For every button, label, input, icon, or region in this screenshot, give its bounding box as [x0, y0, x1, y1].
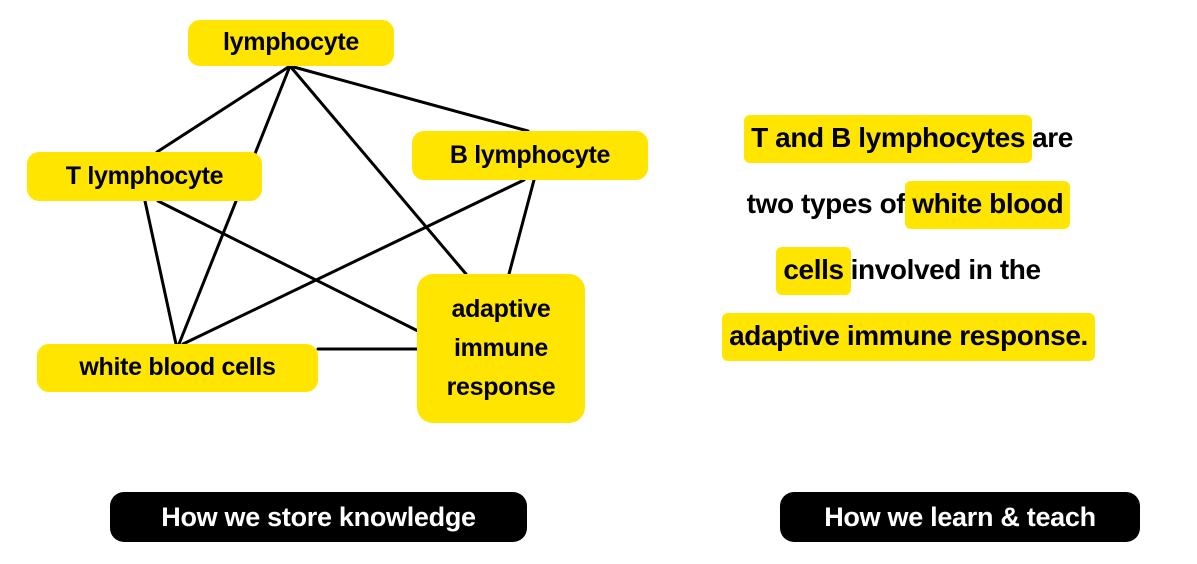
sentence-line: cells involved in the [776, 238, 1040, 304]
graph-node-label: adaptive immune response [447, 290, 556, 406]
edge-lymphocyte-t-lymphocyte [157, 66, 290, 152]
caption-how-we-learn-and-teach[interactable]: How we learn & teach [780, 492, 1140, 542]
sentence-segment-highlighted: adaptive immune response. [722, 313, 1095, 361]
sentence-line: two types of white blood [747, 172, 1071, 238]
edge-lymphocyte-white-blood [179, 66, 290, 344]
graph-node-label: lymphocyte [223, 28, 359, 58]
edge-t-lymphocyte-white-blood [145, 201, 176, 344]
caption-label: How we learn & teach [824, 502, 1096, 533]
caption-label: How we store knowledge [161, 502, 475, 533]
sentence-segment-highlighted: white blood [905, 181, 1070, 229]
caption-how-we-store-knowledge[interactable]: How we store knowledge [110, 492, 527, 542]
edge-t-lymphocyte-adaptive [158, 201, 418, 331]
sentence-segment-highlighted: cells [776, 247, 850, 295]
sentence-segment-plain: two types of [747, 181, 906, 229]
sentence-segment-highlighted: T and B lymphocytes [744, 115, 1032, 163]
edge-lymphocyte-b-lymphocyte [290, 66, 528, 131]
graph-node-lymphocyte[interactable]: lymphocyte [188, 20, 394, 66]
graph-node-label: T lymphocyte [66, 162, 224, 192]
graph-node-adaptive-immune-response[interactable]: adaptive immune response [417, 274, 585, 423]
sentence-segment-plain: are [1032, 115, 1073, 163]
edge-b-lymphocyte-adaptive [509, 180, 534, 274]
graph-node-t-lymphocyte[interactable]: T lymphocyte [27, 152, 262, 201]
graph-node-white-blood-cells[interactable]: white blood cells [37, 344, 318, 392]
sentence-panel: T and B lymphocytes are two types of whi… [620, 0, 1197, 470]
sentence-segment-plain: involved in the [851, 247, 1041, 295]
graph-node-label: B lymphocyte [450, 141, 610, 171]
sentence-line: adaptive immune response. [722, 304, 1095, 370]
graph-node-b-lymphocyte[interactable]: B lymphocyte [412, 131, 648, 180]
knowledge-graph-panel: lymphocyte T lymphocyte B lymphocyte whi… [0, 0, 620, 470]
graph-node-label: white blood cells [79, 353, 275, 383]
sentence-line: T and B lymphocytes are [744, 106, 1073, 172]
